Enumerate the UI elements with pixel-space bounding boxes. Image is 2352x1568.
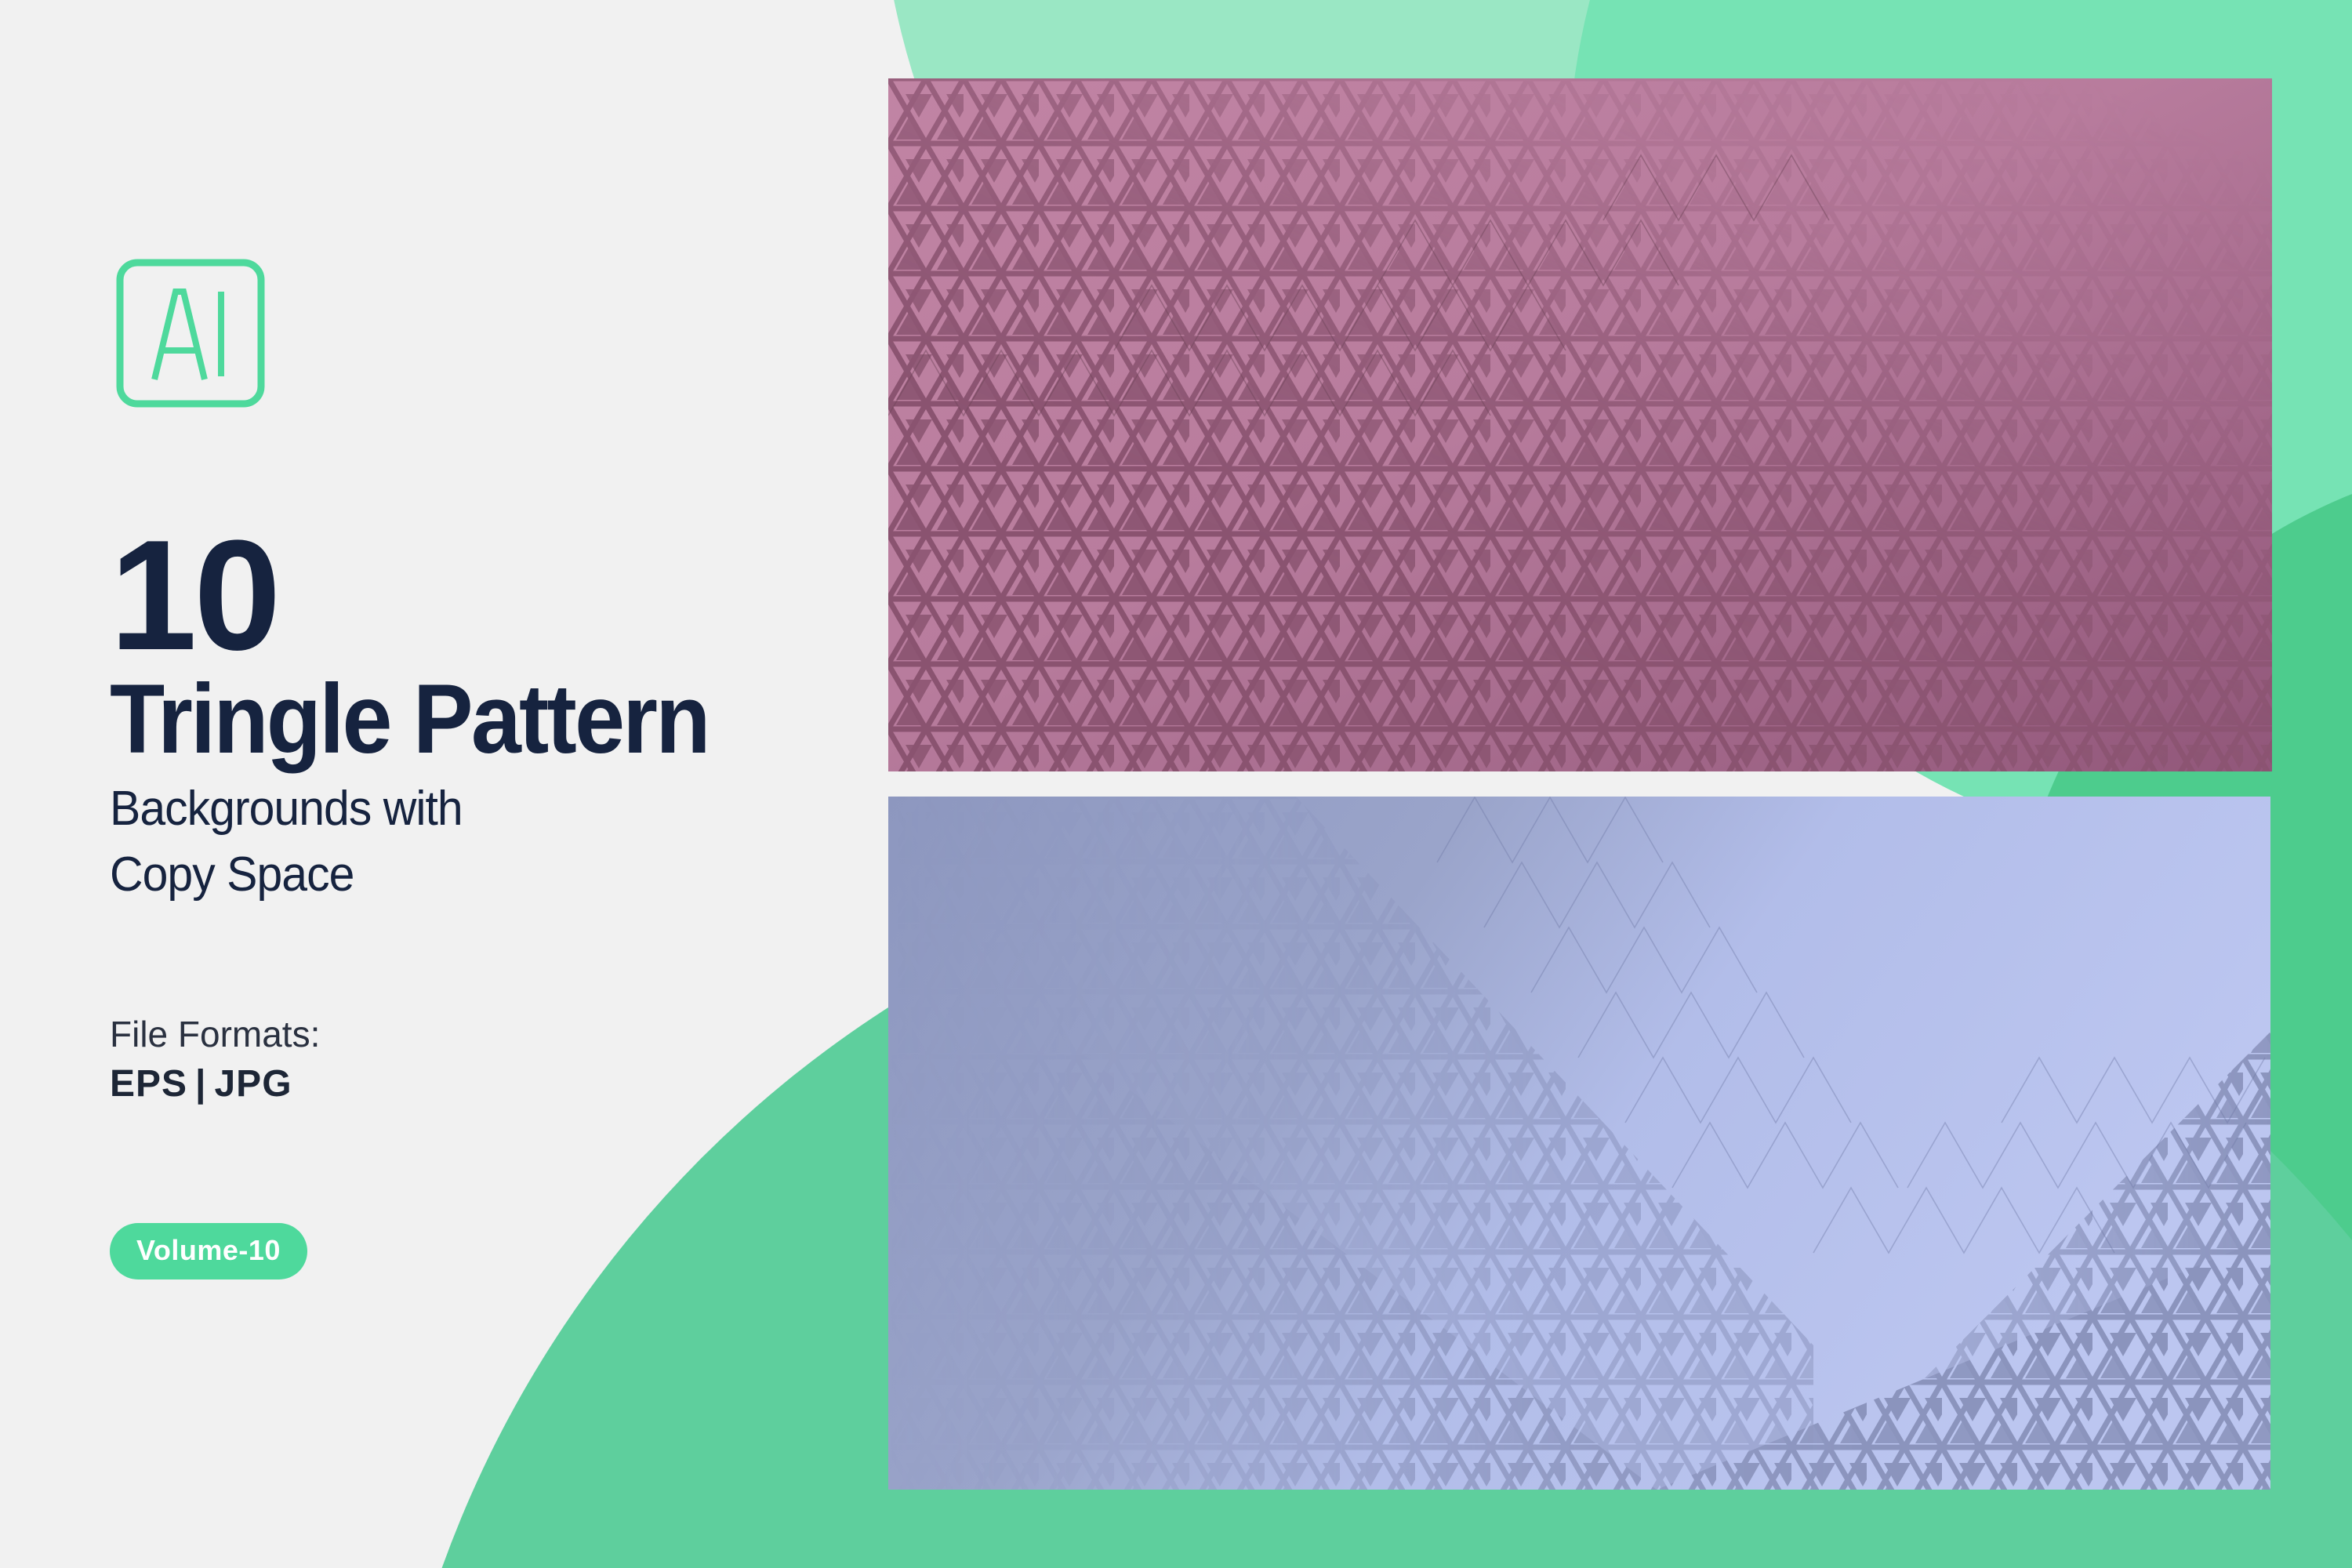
file-format-jpg: JPG bbox=[214, 1063, 292, 1105]
page-title-count: 10 bbox=[110, 521, 278, 670]
file-formats-value: EPS|JPG bbox=[110, 1062, 292, 1105]
poster-canvas: 10 Tringle Pattern Backgrounds with Copy… bbox=[0, 0, 2352, 1568]
file-format-eps: EPS bbox=[110, 1063, 187, 1105]
blue-triangle-preview[interactable] bbox=[888, 797, 2270, 1490]
page-title: Tringle Pattern bbox=[110, 670, 709, 768]
ai-file-icon bbox=[116, 259, 265, 408]
file-formats-label: File Formats: bbox=[110, 1013, 320, 1055]
info-panel: 10 Tringle Pattern Backgrounds with Copy… bbox=[0, 0, 888, 1568]
page-subtitle: Backgrounds with Copy Space bbox=[110, 776, 463, 907]
pink-triangle-preview[interactable] bbox=[888, 78, 2272, 771]
volume-badge: Volume-10 bbox=[110, 1223, 307, 1279]
page-subtitle-line-1: Backgrounds with bbox=[110, 776, 463, 842]
file-format-separator: | bbox=[187, 1063, 214, 1105]
page-subtitle-line-2: Copy Space bbox=[110, 842, 463, 908]
blue-triangle-mesh bbox=[888, 797, 2270, 1490]
pink-triangle-mesh bbox=[888, 78, 2272, 771]
